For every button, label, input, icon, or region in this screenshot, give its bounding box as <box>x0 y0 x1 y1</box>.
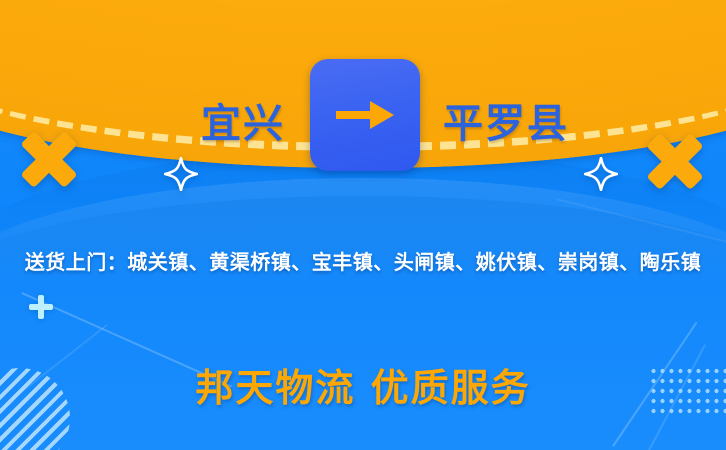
logistics-route-banner: 宜兴 平罗县 送货上门：城关镇、黄渠桥镇、宝丰镇、头闸镇、姚伏镇、崇岗镇、陶乐镇… <box>0 0 726 450</box>
company-slogan: 邦天物流 优质服务 <box>0 357 726 412</box>
arrow-right-icon <box>334 95 396 135</box>
x-cross-icon <box>644 130 706 192</box>
destination-city-label: 平罗县 <box>443 91 569 149</box>
x-cross-icon <box>18 128 80 190</box>
sparkle-icon <box>164 157 198 191</box>
plus-icon <box>29 295 53 319</box>
route-arrow-badge <box>310 59 420 171</box>
sparkle-icon <box>584 157 618 191</box>
origin-city-label: 宜兴 <box>201 91 285 149</box>
delivery-coverage-text: 送货上门：城关镇、黄渠桥镇、宝丰镇、头闸镇、姚伏镇、崇岗镇、陶乐镇 <box>0 246 726 275</box>
